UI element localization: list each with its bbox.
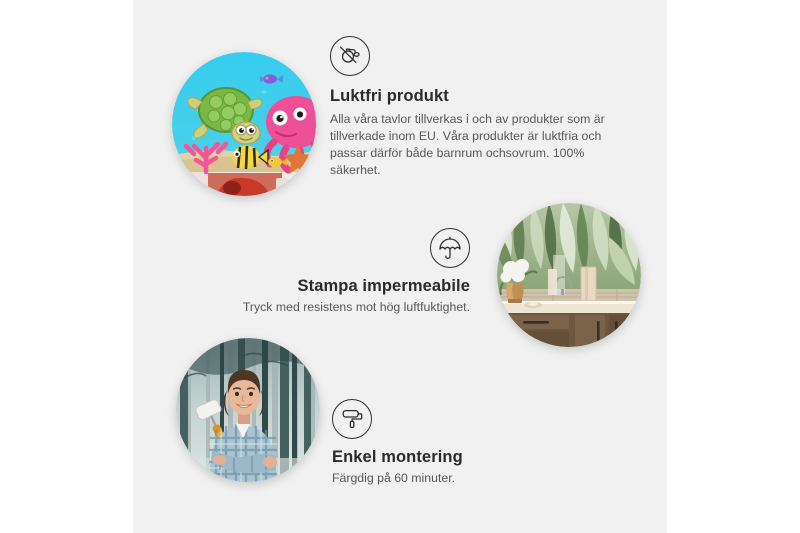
photo-kids-underwater — [172, 52, 316, 196]
feature-odourless: Luktfri produkt Alla våra tavlor tillver… — [330, 36, 630, 179]
feature-assembly-title: Enkel montering — [332, 448, 612, 467]
infographic-page: Luktfri produkt Alla våra tavlor tillver… — [0, 0, 800, 533]
feature-odourless-body: Alla våra tavlor tillverkas i och av pro… — [330, 111, 622, 179]
feature-assembly: Enkel montering Färgdig på 60 minuter. — [332, 399, 612, 487]
photo-painter-forest — [176, 338, 320, 482]
feature-waterproof-icon-wrap — [180, 228, 470, 277]
feature-assembly-body: Färgdig på 60 minuter. — [332, 470, 612, 487]
feature-waterproof: Stampa impermeabile Tryck med resistens … — [180, 228, 470, 316]
paint-roller-icon — [332, 399, 372, 439]
feature-waterproof-body: Tryck med resistens mot hög luftfuktighe… — [180, 299, 470, 316]
feature-assembly-icon-wrap — [332, 399, 612, 439]
umbrella-icon — [430, 228, 470, 268]
photo-bathroom-foliage — [497, 203, 641, 347]
no-perfume-icon — [330, 36, 370, 76]
feature-odourless-icon-wrap — [330, 36, 630, 76]
feature-odourless-title: Luktfri produkt — [330, 87, 630, 106]
feature-waterproof-title: Stampa impermeabile — [180, 277, 470, 296]
